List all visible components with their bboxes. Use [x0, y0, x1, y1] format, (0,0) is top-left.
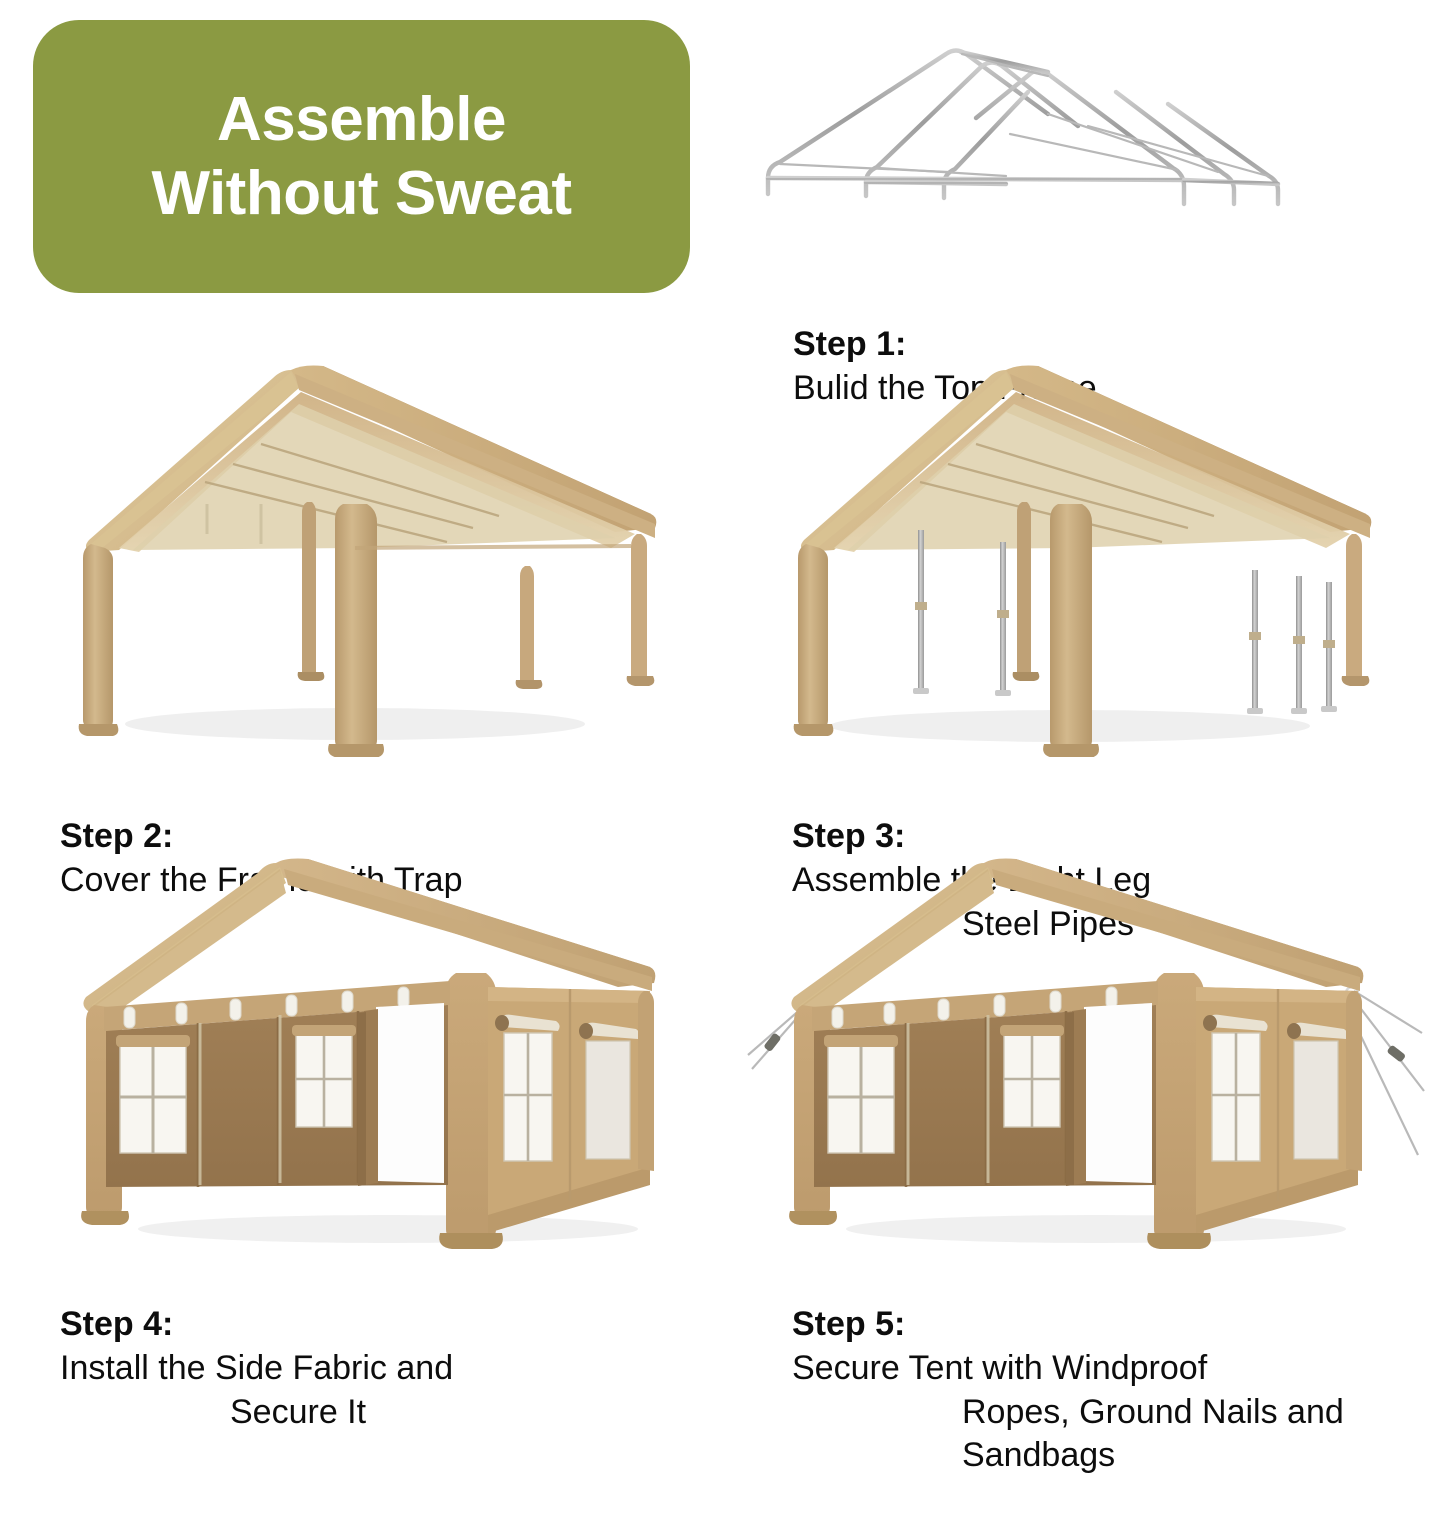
step-2-illustration: [55, 352, 695, 757]
caption-line: Sandbags: [962, 1433, 1432, 1477]
step-3-label: Step 3:: [792, 817, 905, 855]
caption-line: Ropes, Ground Nails and: [962, 1390, 1432, 1434]
step-4-label: Step 4:: [60, 1305, 173, 1343]
assemble-banner: Assemble Without Sweat: [33, 20, 690, 293]
caption-lines: Secure Tent with WindproofRopes, Ground …: [792, 1346, 1432, 1477]
step-3-illustration: [760, 352, 1410, 757]
step-4-illustration: [58, 855, 698, 1255]
step-5-caption: Step 5: Secure Tent with WindproofRopes,…: [792, 1258, 1432, 1521]
step-5-label: Step 5:: [792, 1305, 905, 1343]
caption-lines: Install the Side Fabric andSecure It: [60, 1346, 700, 1433]
assemble-banner-text: Assemble Without Sweat: [151, 83, 571, 229]
step-2-label: Step 2:: [60, 817, 173, 855]
step-4-caption: Step 4: Install the Side Fabric andSecur…: [60, 1258, 700, 1478]
caption-line: Secure It: [230, 1390, 700, 1434]
step-1-illustration: [748, 14, 1308, 214]
step-5-description: Secure Tent with WindproofRopes, Ground …: [792, 1346, 1432, 1477]
step-4-description: Install the Side Fabric andSecure It: [60, 1346, 700, 1433]
step-5-illustration: [746, 855, 1426, 1255]
